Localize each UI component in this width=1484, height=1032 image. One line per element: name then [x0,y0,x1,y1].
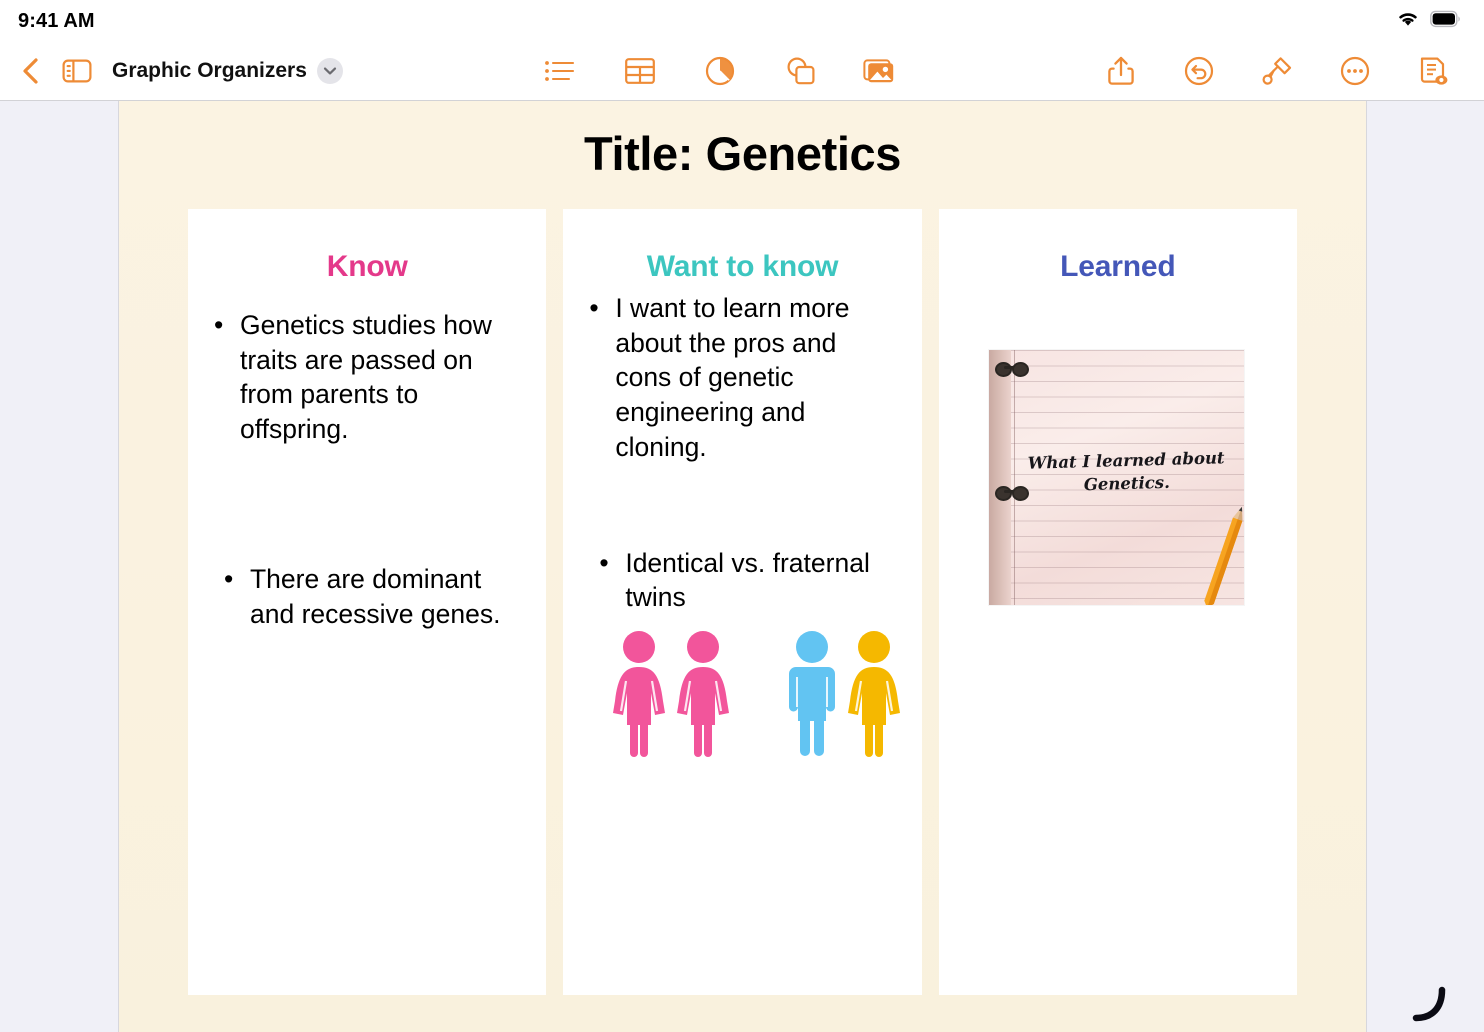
bullet-dot: • [214,308,240,343]
bullet-text: Genetics studies how traits are passed o… [240,308,524,447]
female-figure-pink [673,629,733,759]
column-learned[interactable]: Learned What I learned about [939,209,1297,995]
column-know[interactable]: Know • Genetics studies how traits are p… [188,209,546,995]
bullet-text: There are dominant and recessive genes. [250,562,524,631]
notebook-margin-strip [989,350,1011,605]
bullet-group: • Genetics studies how traits are passed… [206,308,528,447]
slide-title[interactable]: Title: Genetics [119,126,1366,181]
chart-pie-icon[interactable] [697,48,743,94]
document-options-icon[interactable] [1410,48,1456,94]
wifi-icon [1396,10,1420,33]
list-icon[interactable] [537,48,583,94]
identical-twins-pair [609,629,733,759]
table-icon[interactable] [617,48,663,94]
document-title[interactable]: Graphic Organizers [112,59,307,83]
battery-full-icon [1430,10,1462,33]
column-heading-know[interactable]: Know [188,250,546,284]
workspace: Title: Genetics Know • Genetics studies … [0,101,1484,1032]
format-brush-icon[interactable] [1254,48,1300,94]
list-item[interactable]: • There are dominant and recessive genes… [224,562,524,631]
media-image-icon[interactable] [857,48,903,94]
bullet-dot: • [599,546,625,581]
status-indicators [1396,10,1462,33]
notebook-handwriting: What I learned about Genetics. [1024,447,1228,498]
toolbar-insert-group [343,48,1098,94]
shapes-icon[interactable] [777,48,823,94]
more-ellipsis-icon[interactable] [1332,48,1378,94]
twins-figure-group[interactable] [581,629,903,759]
notebook-margin-rule [1014,350,1015,605]
bullet-group: • Identical vs. fraternal twins [581,546,903,615]
list-item[interactable]: • Identical vs. fraternal twins [599,546,899,615]
toolbar-right-group [1098,48,1484,94]
binder-ring-icon [995,362,1029,373]
bullet-text: I want to learn more about the pros and … [615,291,899,465]
bullet-group: • I want to learn more about the pros an… [581,291,903,465]
toolbar-left-group: Graphic Organizers [0,48,343,94]
column-want-to-know[interactable]: Want to know • I want to learn more abou… [563,209,921,995]
back-button[interactable] [8,48,54,94]
bullet-group: • There are dominant and recessive genes… [206,562,528,631]
slide-canvas[interactable]: Title: Genetics Know • Genetics studies … [119,101,1366,1032]
column-body-know: • Genetics studies how traits are passed… [188,308,546,631]
female-figure-yellow [844,629,904,759]
column-heading-want-to-know[interactable]: Want to know [563,250,921,284]
notebook-photo[interactable]: What I learned about Genetics. [989,350,1244,605]
female-figure-pink [609,629,669,759]
male-figure-blue [784,629,840,759]
app-root: 9:41 AM [0,0,1484,1032]
binder-ring-icon [995,486,1029,497]
column-body-want-to-know: • I want to learn more about the pros an… [563,291,921,759]
bullet-text: Identical vs. fraternal twins [625,546,899,615]
undo-icon[interactable] [1176,48,1222,94]
list-item[interactable]: • Genetics studies how traits are passed… [214,308,524,447]
organizer-columns: Know • Genetics studies how traits are p… [188,209,1297,995]
sidebar-panel-icon[interactable] [54,48,100,94]
bullet-dot: • [224,562,250,597]
corner-arc-handle[interactable] [1408,972,1462,1026]
bullet-dot: • [589,291,615,326]
chevron-down-icon[interactable] [317,58,343,84]
app-toolbar: Graphic Organizers [0,42,1484,101]
list-item[interactable]: • I want to learn more about the pros an… [589,291,899,465]
column-heading-learned[interactable]: Learned [939,250,1297,284]
share-icon[interactable] [1098,48,1144,94]
fraternal-twins-pair [784,629,904,759]
status-bar: 9:41 AM [0,0,1484,42]
status-time: 9:41 AM [18,10,95,33]
